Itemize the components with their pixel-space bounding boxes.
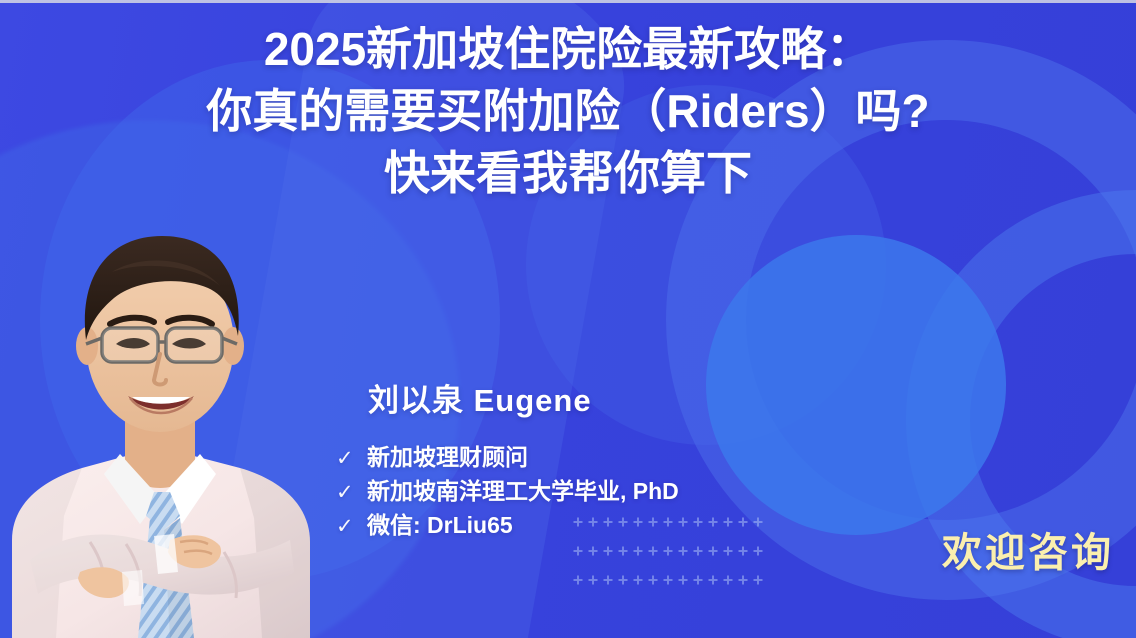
presenter-name: 刘以泉 Eugene [368,375,592,420]
credential-item: ✓ 新加坡理财顾问 [336,441,679,475]
credential-item: ✓ 微信: DrLiu65 [336,509,679,543]
decor-circle-solid [706,235,1006,535]
credential-label: 新加坡南洋理工大学毕业, PhD [367,475,679,508]
credential-item: ✓ 新加坡南洋理工大学毕业, PhD [336,475,679,509]
check-icon: ✓ [336,476,353,509]
title-line-2: 你真的需要买附加险（Riders）吗? [24,80,1112,142]
presenter-photo [0,168,324,638]
decor-top-hairline [0,0,1136,3]
credential-label: 微信: DrLiu65 [367,509,513,542]
poster-canvas: 2025新加坡住院险最新攻略： 你真的需要买附加险（Riders）吗? 快来看我… [0,0,1136,638]
title-line-1: 2025新加坡住院险最新攻略： [24,18,1112,80]
check-icon: ✓ [336,510,353,543]
cta-text: 欢迎咨询 [942,520,1114,578]
check-icon: ✓ [336,442,353,475]
presenter-credentials: ✓ 新加坡理财顾问 ✓ 新加坡南洋理工大学毕业, PhD ✓ 微信: DrLiu… [336,441,679,543]
credential-label: 新加坡理财顾问 [367,441,528,474]
